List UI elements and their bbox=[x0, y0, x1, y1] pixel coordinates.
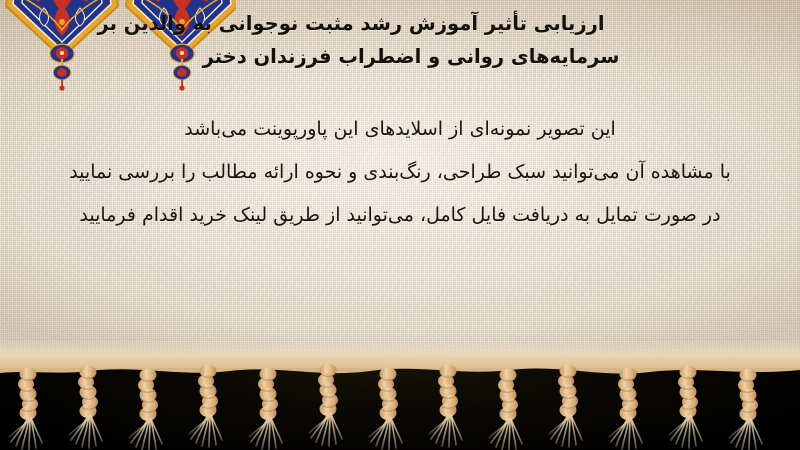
bottom-black-band bbox=[0, 368, 800, 450]
title-line-1: ارزیابی تأثیر آموزش رشد مثبت نوجوانی به … bbox=[22, 7, 800, 40]
body-line-3: در صورت تمایل به دریافت فایل کامل، می‌تو… bbox=[0, 194, 800, 237]
slide-body: این تصویر نمونه‌ای از اسلایدهای این پاور… bbox=[0, 108, 800, 237]
slide-canvas: ارزیابی تأثیر آموزش رشد مثبت نوجوانی به … bbox=[0, 0, 800, 450]
title-line-2: سرمایه‌های روانی و اضطراب فرزندان دختر bbox=[22, 40, 800, 73]
slide-title: ارزیابی تأثیر آموزش رشد مثبت نوجوانی به … bbox=[0, 7, 800, 73]
slide-text: ارزیابی تأثیر آموزش رشد مثبت نوجوانی به … bbox=[0, 0, 800, 378]
body-line-2: با مشاهده آن می‌توانید سبک طراحی، رنگ‌بن… bbox=[0, 151, 800, 194]
body-line-1: این تصویر نمونه‌ای از اسلایدهای این پاور… bbox=[0, 108, 800, 151]
